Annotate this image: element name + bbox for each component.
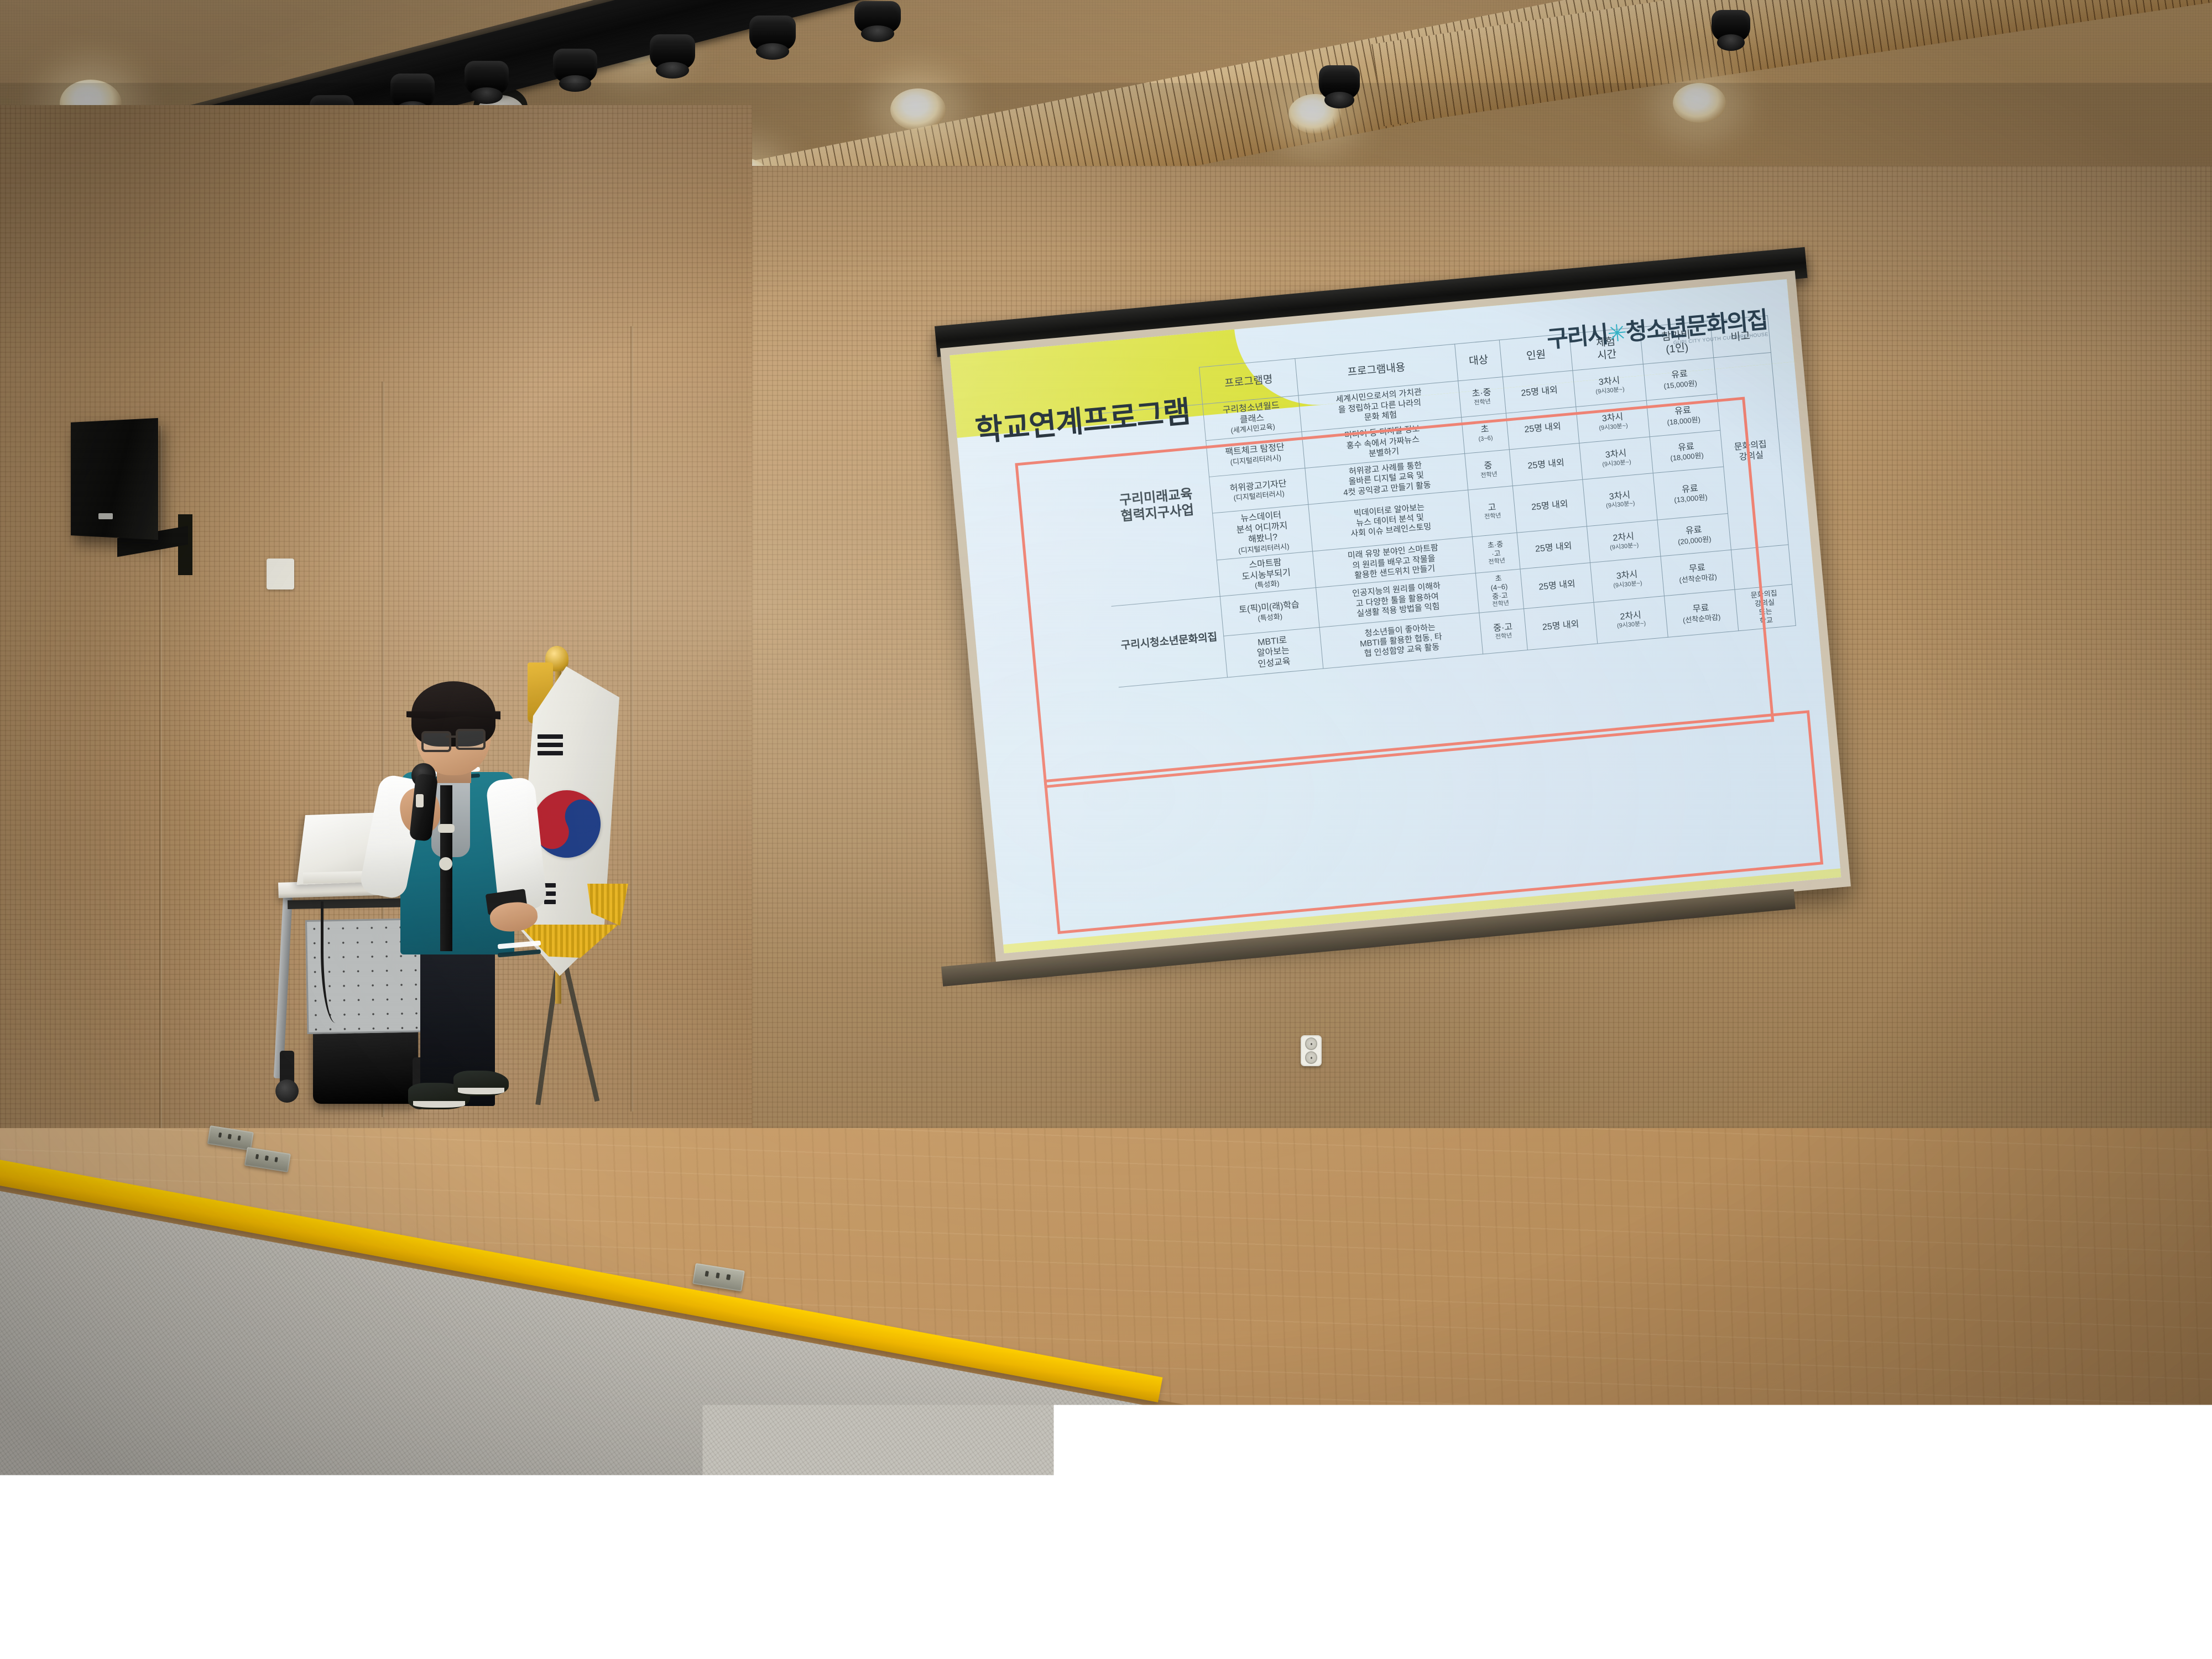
fe-sub: (15,000원) <box>1647 377 1714 392</box>
pn-l3: 인성교육 <box>1258 657 1291 669</box>
cell-hours: 3차시 (9시30분~) <box>1573 364 1646 407</box>
flag-trigram-geon <box>538 734 563 758</box>
cell-hours: 3차시 (9시30분~) <box>1590 556 1665 602</box>
logo-star-icon: ✳ <box>1606 320 1627 347</box>
slide-surface: 구리시✳청소년문화의집 GURI CITY YOUTH CULTURE HOUS… <box>950 279 1841 953</box>
pn-l2: 알아보는 <box>1256 646 1290 658</box>
cell-target: 중 전학년 <box>1464 450 1512 490</box>
track-spotlight <box>1712 10 1750 42</box>
projector-screen: 구리시✳청소년문화의집 GURI CITY YOUTH CULTURE HOUS… <box>940 270 1851 964</box>
microphone-stand-clip <box>438 824 455 833</box>
speaker-brand-badge <box>98 513 113 519</box>
cart-caster-wheel <box>275 1079 299 1103</box>
cell-program-name: MBTI로 알아보는 인성교육 <box>1223 628 1323 677</box>
fe-main: 무료 <box>1689 563 1706 574</box>
tg-sub: (3~6) <box>1465 434 1506 445</box>
th-target: 대상 <box>1454 340 1503 381</box>
hr-main: 3차시 <box>1605 448 1627 460</box>
tg-sub: 전학년 <box>1462 397 1503 408</box>
tg-main: 초 <box>1495 574 1502 583</box>
presenter-shoe <box>453 1071 509 1096</box>
track-spotlight <box>390 74 435 109</box>
cell-target: 고 전학년 <box>1468 486 1517 537</box>
cell-fee: 유료 (15,000원) <box>1643 358 1717 400</box>
cell-fee: 무료 (선착순마감) <box>1664 589 1738 637</box>
pn-l1: 스마트팜 <box>1249 558 1282 570</box>
wall-seam <box>630 326 633 1112</box>
microphone-stand-knob <box>439 857 452 870</box>
cell-capacity: 25명 내외 <box>1509 444 1583 486</box>
cell-target: 중·고 전학년 <box>1479 609 1527 654</box>
logo-text-before: 구리시 <box>1546 321 1609 353</box>
track-spotlight <box>1319 65 1360 100</box>
tg-main: 초·중 <box>1487 540 1503 550</box>
cell-target: 초·중 ·고 전학년 <box>1472 533 1520 573</box>
track-spotlight <box>854 1 901 33</box>
cell-fee: 유료 (18,000원) <box>1650 430 1723 473</box>
track-spotlight <box>465 61 509 95</box>
track-spotlight <box>650 34 695 70</box>
cell-fee: 유료 (18,000원) <box>1646 394 1720 437</box>
program-table: 프로그램명 프로그램내용 대상 인원 체험 시간 참가비 <box>1091 315 1796 687</box>
tg-main: 초·중 <box>1472 388 1491 399</box>
fe-main: 유료 <box>1685 525 1702 536</box>
tg-sub2: ·고 <box>1491 549 1501 558</box>
ceiling-downlight <box>890 88 946 131</box>
pn-l3: 해봤니? <box>1248 533 1278 545</box>
cell-category-group2: 구리시청소년문화의집 <box>1112 597 1228 687</box>
pn-l1: 구리청소년월드 <box>1222 401 1280 415</box>
photo-scene: 구리시✳청소년문화의집 GURI CITY YOUTH CULTURE HOUS… <box>0 0 2212 1659</box>
track-spotlight <box>553 49 597 83</box>
nt-l2: 강의실 <box>1755 598 1775 608</box>
cell-target: 초 (3~6) <box>1461 413 1509 453</box>
fe-sub: (18,000원) <box>1650 414 1718 429</box>
presenter-glasses-icon <box>456 729 486 750</box>
cell-capacity: 25명 내외 <box>1520 563 1594 609</box>
cell-notes-group2: 문화의집 강의실 또는 학교 <box>1735 585 1796 631</box>
wall-access-plate <box>267 559 294 589</box>
nt-l3: 또는 <box>1759 607 1772 617</box>
projected-slide: 구리시✳청소년문화의집 GURI CITY YOUTH CULTURE HOUS… <box>950 279 1841 953</box>
nt-l4: 학교 <box>1759 615 1773 625</box>
cell-hours: 2차시 (9시30분~) <box>1587 520 1661 563</box>
fe-sub: (18,000원) <box>1653 450 1721 465</box>
tg-sub2: 전학년 <box>1480 599 1521 610</box>
cell-target: 초 (4~6) 중·고 전학년 <box>1475 569 1524 613</box>
tg-sub: (4~6) <box>1490 582 1508 592</box>
tg-main2: 중·고 <box>1492 591 1508 601</box>
fe-sub: (선착순마감) <box>1665 571 1732 586</box>
presenter-glasses-icon <box>421 731 451 752</box>
tg-main: 중·고 <box>1493 622 1513 633</box>
cell-hours: 3차시 (9시30분~) <box>1579 437 1653 479</box>
program-table-wrapper: 프로그램명 프로그램내용 대상 인원 체험 시간 참가비 <box>1091 315 1796 687</box>
cell-fee: 유료 (13,000원) <box>1653 467 1728 520</box>
hr-main: 3차시 <box>1601 413 1624 424</box>
presenter-glasses-bridge <box>446 735 457 738</box>
cat-g2-l1: 구리시청소년문화의집 <box>1120 632 1218 652</box>
tg-main: 중 <box>1484 461 1493 471</box>
wall-power-outlet <box>1301 1035 1322 1066</box>
tg-sub: 전학년 <box>1468 469 1510 481</box>
fe-main: 유료 <box>1674 405 1692 416</box>
fe-sub: (선착순마감) <box>1668 612 1735 627</box>
pn-l2: 클래스 <box>1239 413 1265 425</box>
cell-capacity: 25명 내외 <box>1506 407 1579 450</box>
cell-program-name: 뉴스데이터 분석 어디까지 해봤니? (디지털리터러시) <box>1212 504 1312 560</box>
fe-main: 유료 <box>1681 483 1698 494</box>
tg-main: 초 <box>1480 425 1489 435</box>
fe-sub: (20,000원) <box>1661 533 1729 548</box>
track-spotlight <box>749 15 796 51</box>
tg-main: 고 <box>1488 503 1496 513</box>
cell-hours: 3차시 (9시30분~) <box>1576 400 1650 443</box>
cell-hours: 3차시 (9시30분~) <box>1583 473 1657 527</box>
fe-main: 무료 <box>1692 603 1709 614</box>
cell-fee: 무료 (선착순마감) <box>1661 550 1735 596</box>
pc-l3: 분별하기 <box>1368 446 1400 458</box>
hr-main: 3차시 <box>1609 491 1631 502</box>
wall-speaker <box>71 418 158 540</box>
cell-hours: 2차시 (9시30분~) <box>1594 596 1668 644</box>
pn-l1: MBTI로 <box>1258 635 1287 648</box>
cell-capacity: 25명 내외 <box>1524 603 1598 650</box>
hr-main: 2차시 <box>1620 611 1642 622</box>
cell-capacity: 25명 내외 <box>1503 371 1576 413</box>
cell-capacity: 25명 내외 <box>1512 479 1587 533</box>
tg-sub: 전학년 <box>1476 556 1517 567</box>
hr-main: 2차시 <box>1613 532 1635 543</box>
cell-target: 초·중 전학년 <box>1458 377 1506 418</box>
tg-sub: 전학년 <box>1472 512 1514 523</box>
cell-capacity: 25명 내외 <box>1517 526 1590 569</box>
fe-main: 유료 <box>1671 369 1688 380</box>
nt-l2: 강의실 <box>1739 451 1764 462</box>
hr-main: 3차시 <box>1598 376 1620 387</box>
fe-main: 유료 <box>1678 442 1695 453</box>
cell-fee: 유료 (20,000원) <box>1657 514 1731 556</box>
cell-notes-blank <box>1731 545 1792 589</box>
hr-main: 3차시 <box>1616 570 1638 581</box>
ceiling-downlight <box>1673 83 1726 123</box>
tg-sub: 전학년 <box>1483 632 1525 643</box>
microphone-switch <box>416 794 424 807</box>
